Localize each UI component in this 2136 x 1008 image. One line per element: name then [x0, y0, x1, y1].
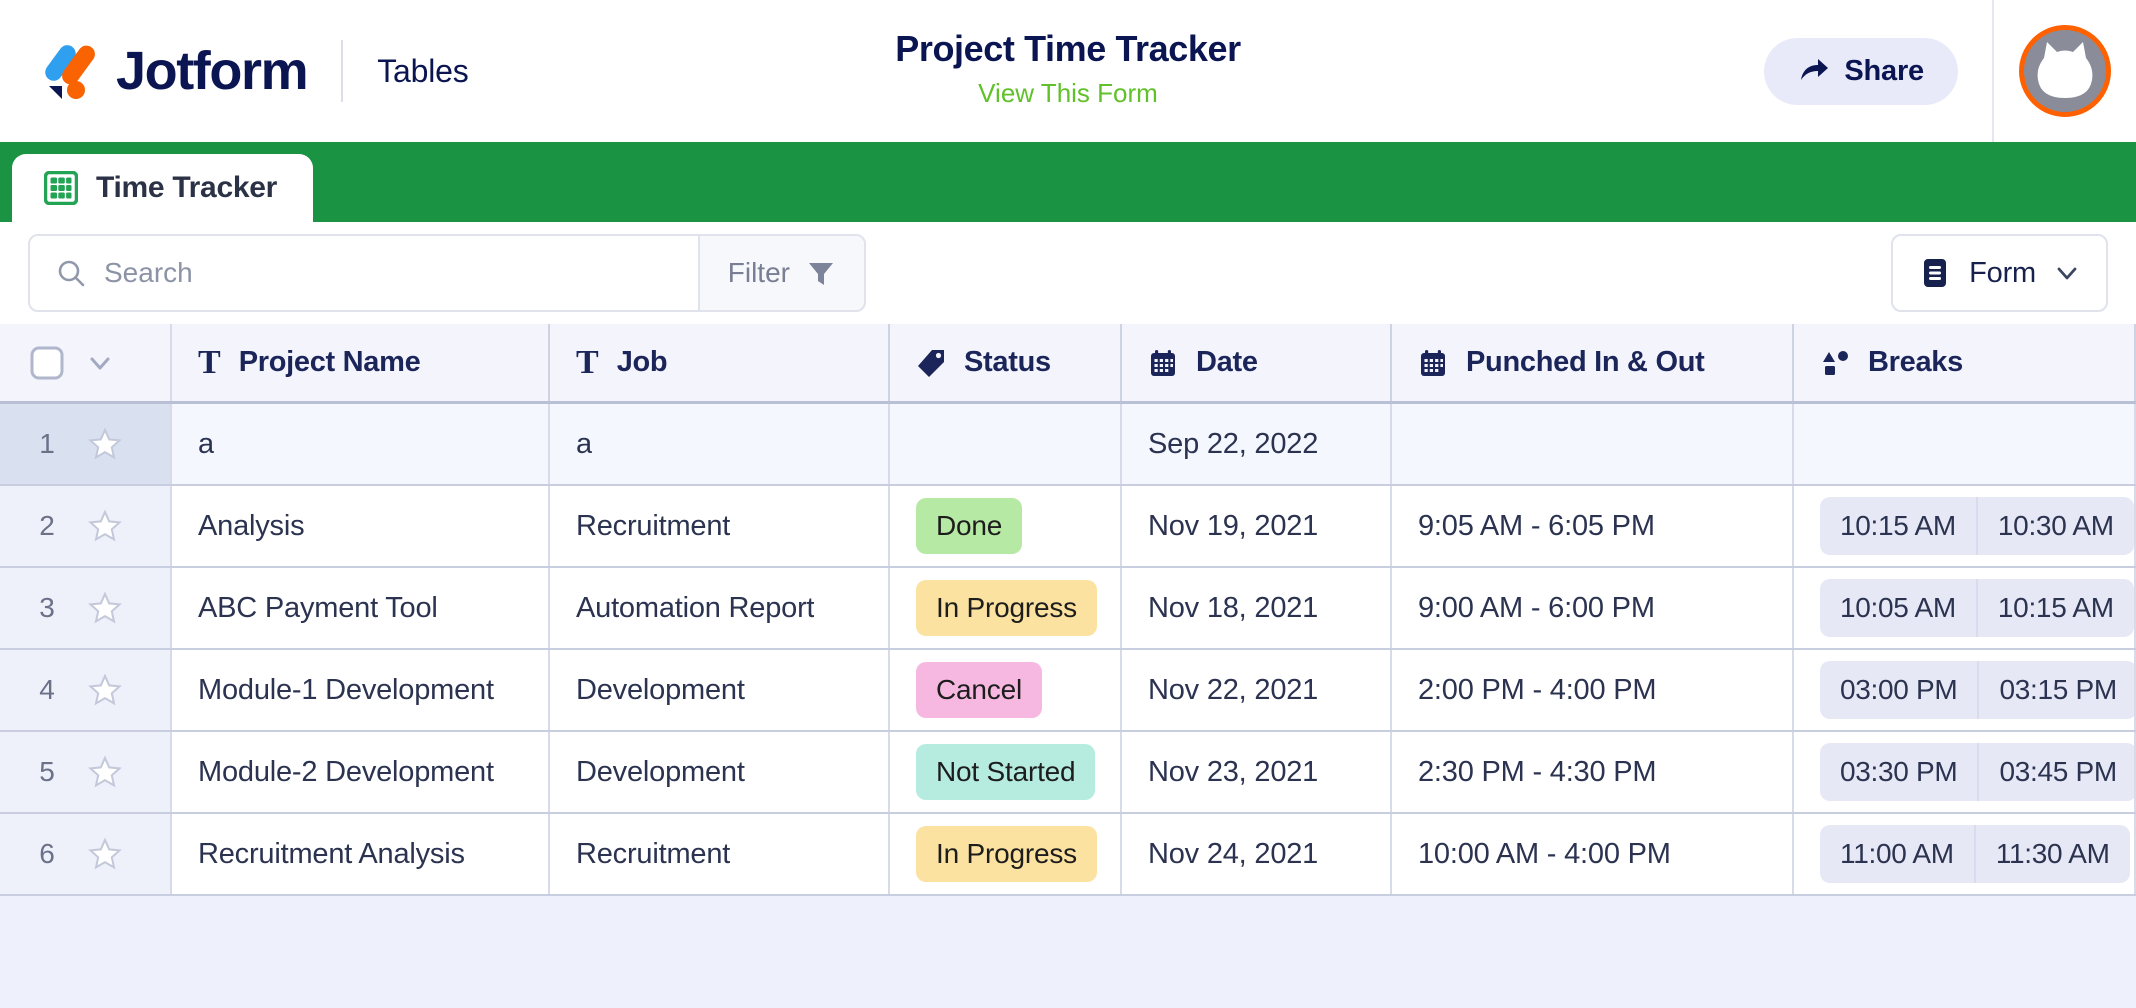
tab-time-tracker[interactable]: Time Tracker [12, 154, 313, 222]
funnel-icon [806, 258, 836, 288]
star-outline-icon[interactable] [88, 509, 122, 543]
cell-status[interactable]: In Progress [890, 814, 1122, 894]
cell-value: Nov 19, 2021 [1148, 510, 1318, 543]
column-header-date[interactable]: Date [1122, 324, 1392, 401]
cell-punched-in-out[interactable]: 9:05 AM - 6:05 PM [1392, 486, 1794, 566]
row-gutter: 3 [0, 568, 172, 648]
cell-value: Recruitment [576, 510, 730, 543]
cell-value: Nov 18, 2021 [1148, 592, 1318, 625]
star-outline-icon[interactable] [88, 755, 122, 789]
row-number: 5 [34, 756, 60, 788]
star-outline-icon[interactable] [88, 591, 122, 625]
cell-value: Analysis [198, 510, 304, 543]
column-header-punched-in-out[interactable]: Punched In & Out [1392, 324, 1794, 401]
cell-breaks[interactable]: 10:05 AM10:15 AM12:00 PM12:30 PM [1794, 568, 2136, 648]
star-outline-icon[interactable] [88, 673, 122, 707]
table-row[interactable]: 6 Recruitment Analysis Recruitment In Pr… [0, 814, 2136, 896]
cell-status[interactable] [890, 404, 1122, 484]
cell-date[interactable]: Nov 19, 2021 [1122, 486, 1392, 566]
chevron-down-icon [2054, 260, 2080, 286]
star-outline-icon[interactable] [88, 427, 122, 461]
table-row[interactable]: 5 Module-2 Development Development Not S… [0, 732, 2136, 814]
cell-job[interactable]: Recruitment [550, 814, 890, 894]
break-time: 10:30 AM [1976, 497, 2134, 555]
search-input[interactable] [104, 257, 698, 289]
status-badge: In Progress [916, 826, 1097, 882]
row-gutter: 4 [0, 650, 172, 730]
cell-value: 2:30 PM - 4:30 PM [1418, 756, 1656, 789]
table-grid: T Project Name T Job Status [0, 324, 2136, 1008]
cell-job[interactable]: Development [550, 732, 890, 812]
filter-label: Filter [728, 257, 790, 289]
shapes-icon [1820, 348, 1850, 378]
avatar[interactable] [1994, 0, 2136, 142]
column-header-status[interactable]: Status [890, 324, 1122, 401]
cell-date[interactable]: Sep 22, 2022 [1122, 404, 1392, 484]
app-header: Jotform Tables Project Time Tracker View… [0, 0, 2136, 142]
header-right: Share [1764, 0, 2136, 142]
cell-punched-in-out[interactable]: 2:30 PM - 4:30 PM [1392, 732, 1794, 812]
calendar-icon [1148, 348, 1178, 378]
break-time: 03:00 PM [1820, 661, 1977, 719]
tab-label: Time Tracker [96, 171, 277, 205]
cell-value: 9:00 AM - 6:00 PM [1418, 592, 1655, 625]
row-number: 4 [34, 674, 60, 706]
cell-date[interactable]: Nov 23, 2021 [1122, 732, 1392, 812]
cell-breaks[interactable]: 10:15 AM10:30 AM [1794, 486, 2136, 566]
break-time: 10:15 AM [1820, 497, 1976, 555]
break-chip: 10:15 AM10:30 AM [1820, 497, 2134, 555]
calendar-icon [1418, 348, 1448, 378]
cell-job[interactable]: Development [550, 650, 890, 730]
break-time: 03:15 PM [1977, 661, 2136, 719]
cell-value: Development [576, 756, 745, 789]
cell-job[interactable]: Recruitment [550, 486, 890, 566]
table-row[interactable]: 3 ABC Payment Tool Automation Report In … [0, 568, 2136, 650]
cell-value: Sep 22, 2022 [1148, 428, 1318, 461]
cell-status[interactable]: In Progress [890, 568, 1122, 648]
cell-project-name[interactable]: Module-1 Development [172, 650, 550, 730]
view-selector-dropdown[interactable]: Form [1891, 234, 2108, 312]
cell-status[interactable]: Not Started [890, 732, 1122, 812]
share-label: Share [1844, 55, 1924, 88]
break-time: 11:30 AM [1974, 825, 2130, 883]
chevron-down-icon[interactable] [86, 349, 114, 377]
cell-breaks[interactable]: 03:30 PM03:45 PM [1794, 732, 2136, 812]
cell-job[interactable]: Automation Report [550, 568, 890, 648]
column-header-label: Job [617, 346, 668, 379]
cell-project-name[interactable]: Analysis [172, 486, 550, 566]
status-badge: Cancel [916, 662, 1042, 718]
break-time: 10:15 AM [1976, 579, 2134, 637]
row-number: 2 [34, 510, 60, 542]
cell-value: Nov 23, 2021 [1148, 756, 1318, 789]
user-avatar-cat-icon [2019, 25, 2111, 117]
cell-value: Nov 22, 2021 [1148, 674, 1318, 707]
cell-project-name[interactable]: Recruitment Analysis [172, 814, 550, 894]
data-table: T Project Name T Job Status [0, 324, 2136, 1008]
cell-breaks[interactable]: 11:00 AM11:30 AM [1794, 814, 2136, 894]
break-chip: 03:30 PM03:45 PM [1820, 743, 2136, 801]
cell-value: Recruitment Analysis [198, 838, 465, 871]
table-toolbar: Filter Form [0, 222, 2136, 324]
cell-status[interactable]: Done [890, 486, 1122, 566]
text-type-icon: T [576, 346, 599, 380]
break-chip: 11:00 AM11:30 AM [1820, 825, 2130, 883]
column-header-label: Date [1196, 346, 1258, 379]
column-header-label: Breaks [1868, 346, 1963, 379]
search-icon [56, 258, 86, 288]
break-time: 11:00 AM [1820, 825, 1974, 883]
cell-punched-in-out[interactable]: 10:00 AM - 4:00 PM [1392, 814, 1794, 894]
cell-punched-in-out[interactable]: 9:00 AM - 6:00 PM [1392, 568, 1794, 648]
table-empty-area [0, 896, 2136, 1008]
checkbox-icon[interactable] [30, 346, 64, 380]
cell-value: a [576, 428, 592, 461]
cell-date[interactable]: Nov 24, 2021 [1122, 814, 1392, 894]
cell-date[interactable]: Nov 18, 2021 [1122, 568, 1392, 648]
cell-value: 2:00 PM - 4:00 PM [1418, 674, 1656, 707]
text-type-icon: T [198, 346, 221, 380]
view-selector-label: Form [1969, 257, 2036, 290]
row-number: 6 [34, 838, 60, 870]
row-number: 3 [34, 592, 60, 624]
cell-value: Recruitment [576, 838, 730, 871]
row-gutter: 1 [0, 404, 172, 484]
tab-bar: Time Tracker [0, 142, 2136, 222]
status-badge: Done [916, 498, 1022, 554]
form-document-icon [1919, 257, 1951, 289]
cell-date[interactable]: Nov 22, 2021 [1122, 650, 1392, 730]
search-field[interactable] [30, 236, 698, 310]
tag-icon [916, 348, 946, 378]
cell-breaks[interactable] [1794, 404, 2136, 484]
cell-value: Module-1 Development [198, 674, 494, 707]
cell-value: Module-2 Development [198, 756, 494, 789]
cell-project-name[interactable]: a [172, 404, 550, 484]
table-row[interactable]: 1 a a Sep 22, 2022 [0, 404, 2136, 486]
column-header-label: Punched In & Out [1466, 346, 1704, 379]
row-gutter: 6 [0, 814, 172, 894]
break-time: 03:30 PM [1820, 743, 1977, 801]
table-row[interactable]: 2 Analysis Recruitment Done Nov 19, 2021… [0, 486, 2136, 568]
row-number: 1 [34, 428, 60, 460]
column-header-project-name[interactable]: T Project Name [172, 324, 550, 401]
share-button[interactable]: Share [1764, 38, 1958, 105]
status-badge: Not Started [916, 744, 1095, 800]
cell-punched-in-out[interactable]: 2:00 PM - 4:00 PM [1392, 650, 1794, 730]
break-chip: 03:00 PM03:15 PM [1820, 661, 2136, 719]
cell-value: ABC Payment Tool [198, 592, 438, 625]
cell-value: 9:05 AM - 6:05 PM [1418, 510, 1655, 543]
status-badge: In Progress [916, 580, 1097, 636]
star-outline-icon[interactable] [88, 837, 122, 871]
cell-value: Automation Report [576, 592, 814, 625]
break-time: 10:05 AM [1820, 579, 1976, 637]
header-gutter [0, 324, 172, 401]
search-box: Filter [28, 234, 866, 312]
column-header-label: Status [964, 346, 1051, 379]
share-arrow-icon [1798, 55, 1830, 87]
view-form-link[interactable]: View This Form [978, 77, 1158, 110]
column-header-label: Project Name [239, 346, 421, 379]
cell-status[interactable]: Cancel [890, 650, 1122, 730]
cell-job[interactable]: a [550, 404, 890, 484]
break-chip: 10:05 AM10:15 AM [1820, 579, 2134, 637]
cell-project-name[interactable]: ABC Payment Tool [172, 568, 550, 648]
table-header-row: T Project Name T Job Status [0, 324, 2136, 404]
column-header-job[interactable]: T Job [550, 324, 890, 401]
filter-button[interactable]: Filter [698, 236, 864, 310]
table-row[interactable]: 4 Module-1 Development Development Cance… [0, 650, 2136, 732]
column-header-breaks[interactable]: Breaks [1794, 324, 2136, 401]
cell-value: Development [576, 674, 745, 707]
cell-project-name[interactable]: Module-2 Development [172, 732, 550, 812]
row-gutter: 5 [0, 732, 172, 812]
break-time: 03:45 PM [1977, 743, 2136, 801]
row-gutter: 2 [0, 486, 172, 566]
cell-value: a [198, 428, 214, 461]
table-grid-icon [44, 171, 78, 205]
cell-punched-in-out[interactable] [1392, 404, 1794, 484]
cell-value: Nov 24, 2021 [1148, 838, 1318, 871]
cell-breaks[interactable]: 03:00 PM03:15 PM [1794, 650, 2136, 730]
cell-value: 10:00 AM - 4:00 PM [1418, 838, 1671, 871]
